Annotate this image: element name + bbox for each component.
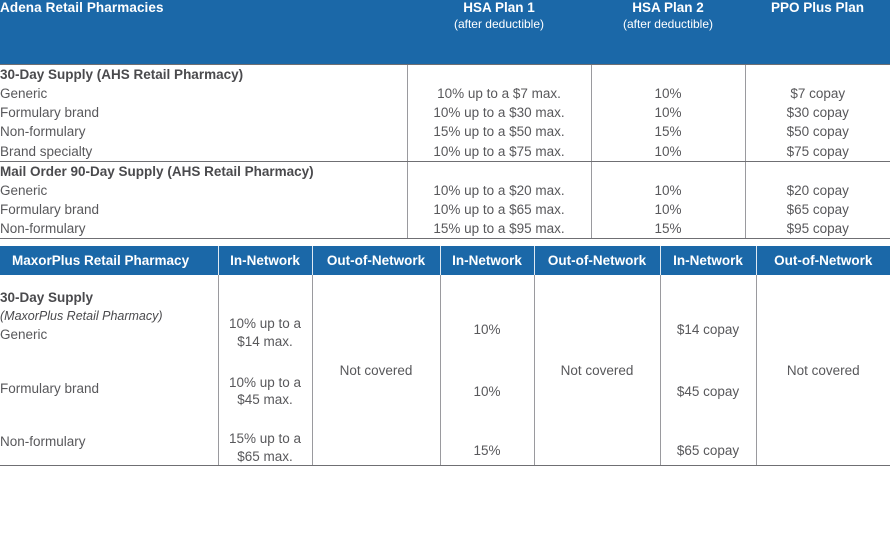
value-mo-hsa2-formulary: 10% (592, 200, 745, 219)
value-30day-ppo-generic: $7 copay (746, 84, 890, 103)
table-row-maxorplus-30-day: 30-Day Supply (MaxorPlus Retail Pharmacy… (0, 275, 890, 465)
item-label-non-formulary-mx: Non-formulary (0, 433, 218, 451)
bottom-table-header-row: MaxorPlus Retail Pharmacy In-Network Out… (0, 246, 890, 275)
item-label-non-formulary-mo: Non-formulary (0, 219, 407, 238)
hsa-plan-1-name: HSA Plan 1 (407, 0, 591, 17)
hsa-plan-1-sub: (after deductible) (407, 17, 591, 32)
value-30day-ppo-formulary: $30 copay (746, 103, 890, 122)
column-header-hsa2-in-network: In-Network (440, 246, 534, 275)
column-header-ppo-out-of-network: Out-of-Network (756, 246, 890, 275)
value-30day-hsa1-specialty: 10% up to a $75 max. (408, 142, 591, 161)
top-table-header-row: Adena Retail Pharmacies HSA Plan 1 (afte… (0, 0, 890, 65)
adena-retail-pharmacies-table: Adena Retail Pharmacies HSA Plan 1 (afte… (0, 0, 890, 239)
value-mx-hsa1in-nonformulary-l1: 15% up to a (219, 430, 312, 447)
value-mo-ppo-nonformulary: $95 copay (746, 219, 890, 238)
value-mx-hsa1in-formulary-l2: $45 max. (219, 391, 312, 408)
hsa-plan-2-name: HSA Plan 2 (591, 0, 745, 17)
section-labels-30-day: 30-Day Supply (AHS Retail Pharmacy) Gene… (0, 65, 407, 162)
value-mo-ppo-generic: $20 copay (746, 181, 890, 200)
value-mo-hsa1-nonformulary: 15% up to a $95 max. (408, 219, 591, 238)
value-30day-hsa2-formulary: 10% (592, 103, 745, 122)
value-mx-hsa2in-generic: 10% (441, 321, 534, 338)
item-label-generic-mo: Generic (0, 181, 407, 200)
item-label-formulary-brand-mx: Formulary brand (0, 380, 218, 398)
value-30day-hsa2-generic: 10% (592, 84, 745, 103)
value-mo-hsa1-generic: 10% up to a $20 max. (408, 181, 591, 200)
values-mail-order-ppo-plus: $20 copay $65 copay $95 copay (745, 161, 890, 239)
values-30-day-hsa-plan-2: 10% 10% 15% 10% (591, 65, 745, 162)
maxorplus-section-labels: 30-Day Supply (MaxorPlus Retail Pharmacy… (0, 275, 218, 465)
maxorplus-retail-pharmacy-table: MaxorPlus Retail Pharmacy In-Network Out… (0, 246, 890, 466)
value-mo-ppo-formulary: $65 copay (746, 200, 890, 219)
section-title-30-day: 30-Day Supply (AHS Retail Pharmacy) (0, 65, 407, 84)
column-header-hsa-plan-2: HSA Plan 2 (after deductible) (591, 0, 745, 65)
column-header-hsa1-in-network: In-Network (218, 246, 312, 275)
value-mx-ppoin-generic: $14 copay (661, 321, 756, 338)
value-mo-hsa2-nonformulary: 15% (592, 219, 745, 238)
value-30day-hsa1-nonformulary: 15% up to a $50 max. (408, 122, 591, 141)
value-mx-ppoin-formulary: $45 copay (661, 383, 756, 400)
hsa-plan-2-sub: (after deductible) (591, 17, 745, 32)
section-labels-mail-order: Mail Order 90-Day Supply (AHS Retail Pha… (0, 161, 407, 239)
value-mx-hsa1in-formulary-l1: 10% up to a (219, 374, 312, 391)
column-header-ppo-plus-plan: PPO Plus Plan (745, 0, 890, 65)
value-mx-hsa2in-nonformulary: 15% (441, 442, 534, 459)
column-header-hsa1-out-of-network: Out-of-Network (312, 246, 440, 275)
value-maxorplus-hsa1-out-of-network: Not covered (312, 275, 440, 465)
values-30-day-ppo-plus: $7 copay $30 copay $50 copay $75 copay (745, 65, 890, 162)
values-mail-order-hsa-plan-2: 10% 10% 15% (591, 161, 745, 239)
value-30day-hsa1-generic: 10% up to a $7 max. (408, 84, 591, 103)
value-maxorplus-hsa2-out-of-network: Not covered (534, 275, 660, 465)
value-30day-ppo-nonformulary: $50 copay (746, 122, 890, 141)
section-title-paren-30-day: (AHS Retail Pharmacy) (97, 67, 243, 82)
item-label-generic: Generic (0, 84, 407, 103)
maxorplus-title: MaxorPlus Retail Pharmacy (0, 246, 218, 275)
table-row-30-day-supply: 30-Day Supply (AHS Retail Pharmacy) Gene… (0, 65, 890, 162)
maxorplus-section-title: 30-Day Supply (0, 289, 218, 307)
value-30day-hsa2-specialty: 10% (592, 142, 745, 161)
value-mx-ppoin-nonformulary: $65 copay (661, 442, 756, 459)
item-label-brand-specialty: Brand specialty (0, 142, 407, 161)
value-mx-hsa1in-generic-l2: $14 max. (219, 333, 312, 350)
item-label-formulary-brand: Formulary brand (0, 103, 407, 122)
maxorplus-section-subtitle: (MaxorPlus Retail Pharmacy) (0, 308, 218, 325)
value-30day-ppo-specialty: $75 copay (746, 142, 890, 161)
item-label-generic-mx: Generic (0, 326, 218, 344)
value-30day-hsa1-formulary: 10% up to a $30 max. (408, 103, 591, 122)
values-maxorplus-hsa1-in-network: 10% up to a $14 max. 10% up to a $45 max… (218, 275, 312, 465)
top-table-title: Adena Retail Pharmacies (0, 0, 407, 65)
section-title-paren-mail-order: (AHS Retail Pharmacy) (167, 164, 313, 179)
values-maxorplus-hsa2-in-network: 10% 10% 15% (440, 275, 534, 465)
section-title-mail-order: Mail Order 90-Day Supply (AHS Retail Pha… (0, 162, 407, 181)
value-mx-hsa1in-nonformulary-l2: $65 max. (219, 448, 312, 465)
ppo-plus-plan-name: PPO Plus Plan (745, 0, 890, 17)
column-header-ppo-in-network: In-Network (660, 246, 756, 275)
column-header-hsa2-out-of-network: Out-of-Network (534, 246, 660, 275)
value-mo-hsa1-formulary: 10% up to a $65 max. (408, 200, 591, 219)
value-30day-hsa2-nonformulary: 15% (592, 122, 745, 141)
value-mx-hsa2in-formulary: 10% (441, 383, 534, 400)
values-30-day-hsa-plan-1: 10% up to a $7 max. 10% up to a $30 max.… (407, 65, 591, 162)
value-mx-hsa1in-generic-l1: 10% up to a (219, 315, 312, 332)
value-mo-hsa2-generic: 10% (592, 181, 745, 200)
value-maxorplus-ppo-out-of-network: Not covered (756, 275, 890, 465)
benefits-comparison-sheet: Adena Retail Pharmacies HSA Plan 1 (afte… (0, 0, 890, 539)
item-label-formulary-brand-mo: Formulary brand (0, 200, 407, 219)
column-header-hsa-plan-1: HSA Plan 1 (after deductible) (407, 0, 591, 65)
item-label-non-formulary: Non-formulary (0, 122, 407, 141)
values-maxorplus-ppo-in-network: $14 copay $45 copay $65 copay (660, 275, 756, 465)
table-row-mail-order-90-day: Mail Order 90-Day Supply (AHS Retail Pha… (0, 161, 890, 239)
values-mail-order-hsa-plan-1: 10% up to a $20 max. 10% up to a $65 max… (407, 161, 591, 239)
